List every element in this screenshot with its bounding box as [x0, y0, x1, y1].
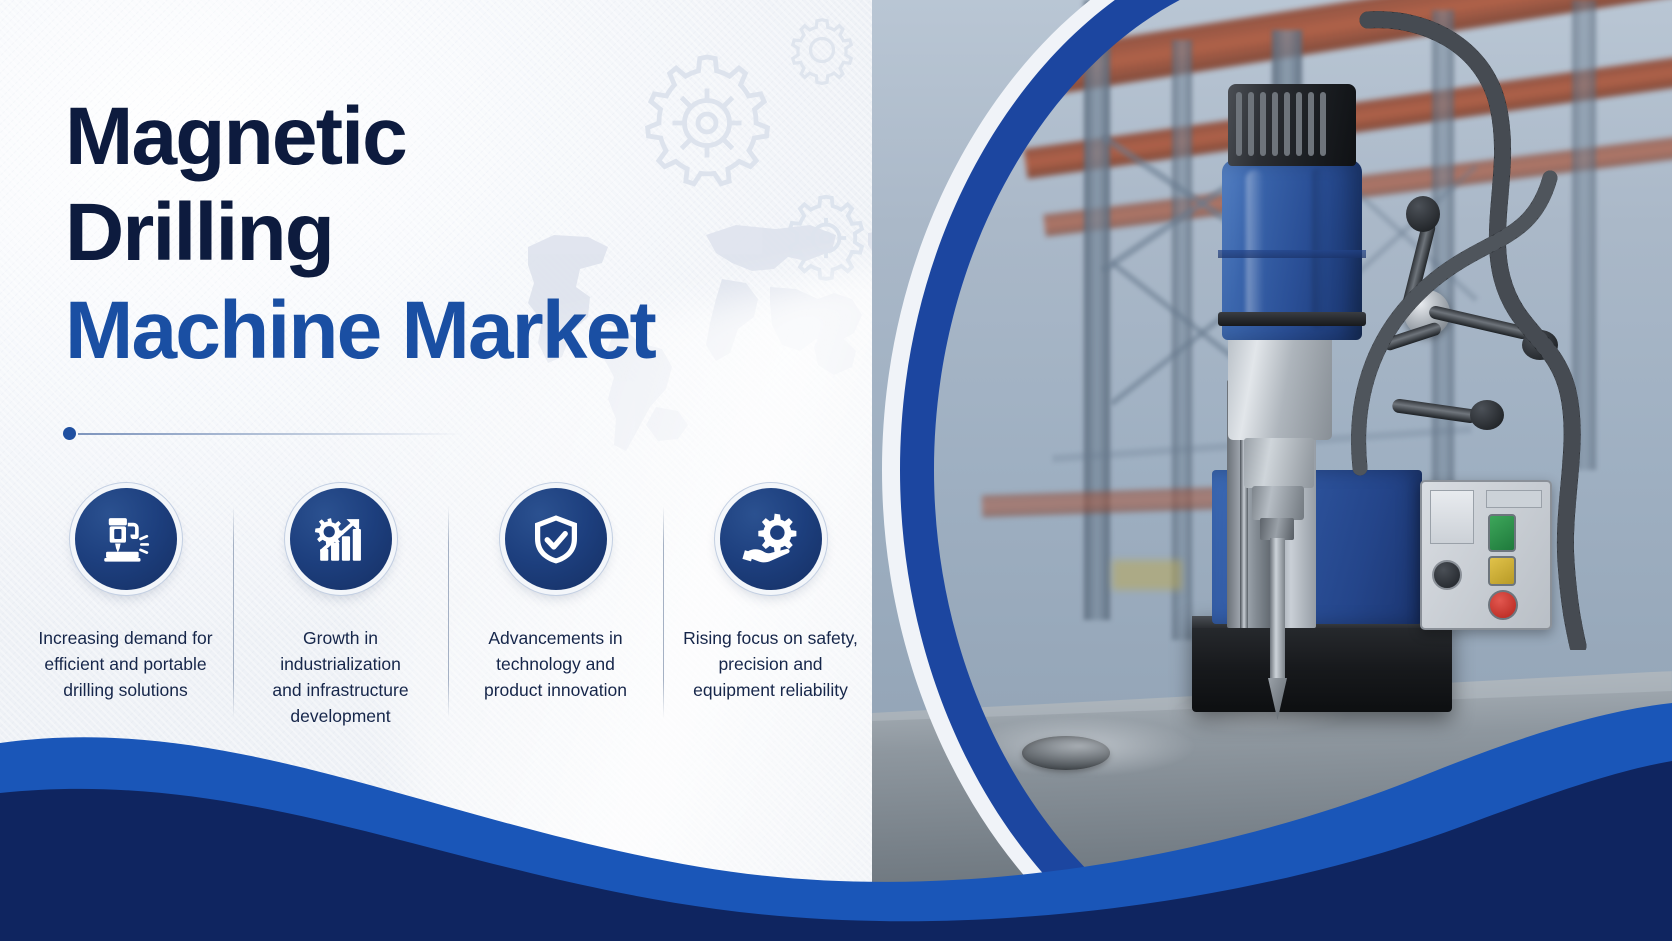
page-title: Magnetic Drilling Machine Market — [65, 96, 825, 372]
feature-caption-line: precision and — [683, 652, 858, 678]
shield-check-icon — [528, 511, 584, 567]
title-accent-rule — [63, 427, 463, 440]
title-line-3: Machine Market — [65, 290, 825, 372]
hydraulic-hose — [1342, 150, 1572, 480]
feature-badge — [290, 488, 392, 590]
feature-caption-line: Advancements in — [484, 626, 627, 652]
gear-in-hand-icon — [742, 510, 800, 568]
accent-line — [78, 433, 463, 435]
banner-canvas: Magnetic Drilling Machine Market — [0, 0, 1672, 941]
feature-item-technology[interactable]: Advancements in technology and product i… — [448, 488, 663, 704]
growth-chart-gear-icon — [312, 510, 370, 568]
feature-caption-line: technology and — [484, 652, 627, 678]
magnetic-drill-icon — [97, 510, 155, 568]
feature-badge — [505, 488, 607, 590]
bottom-wave-decoration — [0, 681, 1672, 941]
feature-badge — [75, 488, 177, 590]
feature-caption-line: Rising focus on safety, — [683, 626, 858, 652]
feature-item-demand[interactable]: Increasing demand for efficient and port… — [18, 488, 233, 704]
accent-dot — [63, 427, 76, 440]
feature-item-safety[interactable]: Rising focus on safety, precision and eq… — [663, 488, 878, 704]
feature-badge — [720, 488, 822, 590]
feature-caption-line: efficient and portable — [38, 652, 212, 678]
title-line-1: Magnetic — [65, 96, 825, 178]
feature-caption-line: Increasing demand for — [38, 626, 212, 652]
title-line-2: Drilling — [65, 192, 825, 274]
feature-caption-line: Growth in industrialization — [241, 626, 440, 678]
